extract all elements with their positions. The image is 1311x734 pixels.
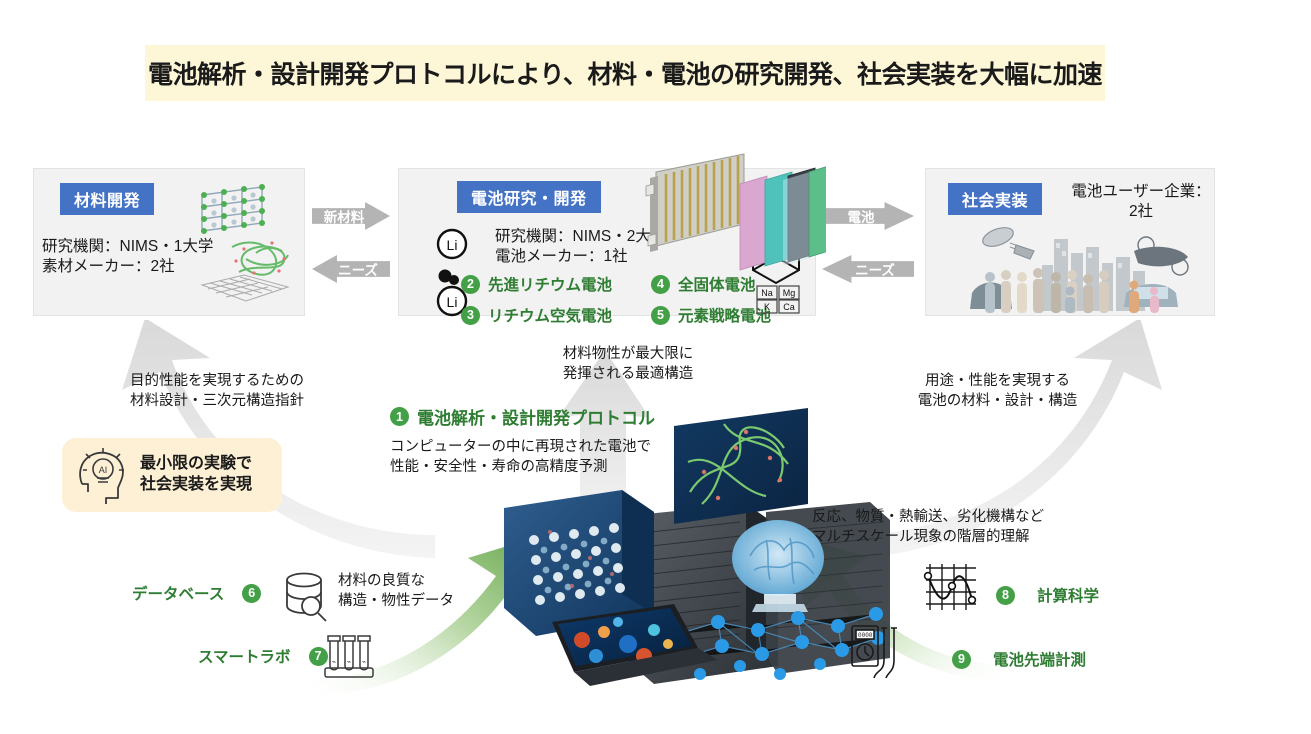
caption-battery-design-structure-line-2: 電池の材料・設計・構造 (890, 392, 1105, 412)
caption-multiscale-understanding: 反応、物質・熱輸送、劣化機構など マルチスケール現象の階層的理解 (812, 508, 1044, 547)
bottom-item-computational-science[interactable]: 8 計算科学 (996, 584, 1099, 606)
ai-callout-line-2: 社会実装を実現 (140, 475, 252, 496)
flow-arrow-battery-label: 電池 (848, 206, 875, 226)
battery-user-line-2: 2社 (1071, 202, 1211, 222)
flow-arrow-new-materials-label: 新材料 (324, 206, 365, 226)
caption-material-design-guideline: 目的性能を実現するための 材料設計・三次元構造指針 (130, 372, 304, 411)
svg-text:K: K (764, 302, 770, 312)
bottom-item-smart-lab[interactable]: スマートラボ 7 (198, 645, 328, 667)
battery-user-line-1: 電池ユーザー企業： (1071, 182, 1211, 202)
flow-arrow-needs-right-label: ニーズ (855, 259, 895, 279)
caption-material-design-guideline-line-2: 材料設計・三次元構造指針 (130, 392, 304, 412)
page-title: 電池解析・設計開発プロトコルにより、材料・電池の研究開発、社会実装を大幅に加速 (148, 55, 1102, 91)
research-item-5[interactable]: 5 元素戦略電池 (651, 304, 841, 326)
bottom-item-computational-science-label: 計算科学 (1037, 584, 1099, 606)
caption-optimal-structure-line-1: 材料物性が最大限に (528, 345, 728, 365)
caption-battery-design-structure: 用途・性能を実現する 電池の材料・設計・構造 (890, 372, 1105, 411)
item-number-8: 8 (996, 586, 1015, 605)
research-item-3[interactable]: 3 リチウム空気電池 (461, 304, 651, 326)
item-number-1: 1 (390, 407, 409, 426)
bottom-item-advanced-measurement[interactable]: 9 電池先端計測 (952, 648, 1086, 670)
svg-text:⌁: ⌁ (362, 659, 366, 666)
item-number-5: 5 (651, 306, 670, 325)
research-item-2[interactable]: 2 先進リチウム電池 (461, 273, 651, 295)
item-number-3: 3 (461, 306, 480, 325)
caption-optimal-structure: 材料物性が最大限に 発揮される最適構造 (528, 345, 728, 384)
svg-text:⌁: ⌁ (332, 659, 336, 666)
digital-twin-supercomputer-composite (478, 408, 898, 708)
mesh-grid-plot-icon (920, 562, 980, 616)
caption-quality-structure-data: 材料の良質な 構造・物性データ (338, 572, 454, 611)
crystal-polymer-structures-image (184, 177, 304, 312)
bottom-item-advanced-measurement-label: 電池先端計測 (993, 648, 1086, 670)
svg-text:⌁: ⌁ (347, 659, 351, 666)
flow-arrow-needs-left: ニーズ (312, 255, 390, 283)
svg-text:0000: 0000 (858, 632, 873, 639)
panel-material-development: 材料開発 研究機関：NIMS・1大学 素材メーカー：2社 (33, 168, 305, 316)
ai-callout-line-1: 最小限の実験で (140, 454, 252, 475)
svg-text:Li: Li (447, 294, 458, 310)
bottom-item-smart-lab-label: スマートラボ (198, 645, 291, 667)
caption-battery-design-structure-line-1: 用途・性能を実現する (890, 372, 1105, 392)
test-tubes-icon: ⌁⌁⌁ (322, 634, 376, 680)
item-label-2: 先進リチウム電池 (488, 273, 612, 295)
title-banner: 電池解析・設計開発プロトコルにより、材料・電池の研究開発、社会実装を大幅に加速 (145, 45, 1105, 101)
flow-arrow-new-materials: 新材料 (312, 202, 390, 230)
badge-material-development: 材料開発 (60, 183, 154, 215)
measurement-probe-icon: 0000 (848, 620, 908, 682)
battery-cell-stack-image (636, 150, 826, 295)
item-number-9: 9 (952, 650, 971, 669)
caption-quality-structure-data-line-1: 材料の良質な (338, 572, 454, 592)
caption-multiscale-understanding-line-1: 反応、物質・熱輸送、劣化機構など (812, 508, 1044, 528)
database-search-icon (280, 570, 332, 626)
ai-head-lightbulb-icon: AI (72, 444, 132, 506)
society-city-people-mobility-image (958, 221, 1198, 316)
caption-multiscale-understanding-line-2: マルチスケール現象の階層的理解 (812, 528, 1044, 548)
bottom-item-database-label: データベース (132, 582, 224, 604)
badge-battery-research: 電池研究・開発 (457, 181, 601, 213)
item-number-6: 6 (242, 584, 261, 603)
flow-arrow-needs-left-label: ニーズ (338, 259, 378, 279)
ai-callout-box: AI 最小限の実験で 社会実装を実現 (62, 438, 282, 512)
caption-quality-structure-data-line-2: 構造・物性データ (338, 592, 454, 612)
caption-material-design-guideline-line-1: 目的性能を実現するための (130, 372, 304, 392)
panel-social-implementation: 社会実装 電池ユーザー企業： 2社 (925, 168, 1215, 316)
item-number-2: 2 (461, 275, 480, 294)
flow-arrow-battery: 電池 (822, 202, 914, 230)
item-label-3: リチウム空気電池 (488, 304, 612, 326)
svg-text:Ca: Ca (783, 302, 795, 312)
svg-text:Li: Li (447, 237, 458, 253)
badge-social-implementation: 社会実装 (948, 183, 1042, 215)
ai-icon-text: AI (99, 465, 108, 475)
ai-callout-text: 最小限の実験で 社会実装を実現 (140, 454, 252, 496)
bottom-item-database[interactable]: データベース 6 (132, 582, 261, 604)
polymer-monitor (674, 408, 808, 524)
caption-optimal-structure-line-2: 発揮される最適構造 (528, 365, 728, 385)
